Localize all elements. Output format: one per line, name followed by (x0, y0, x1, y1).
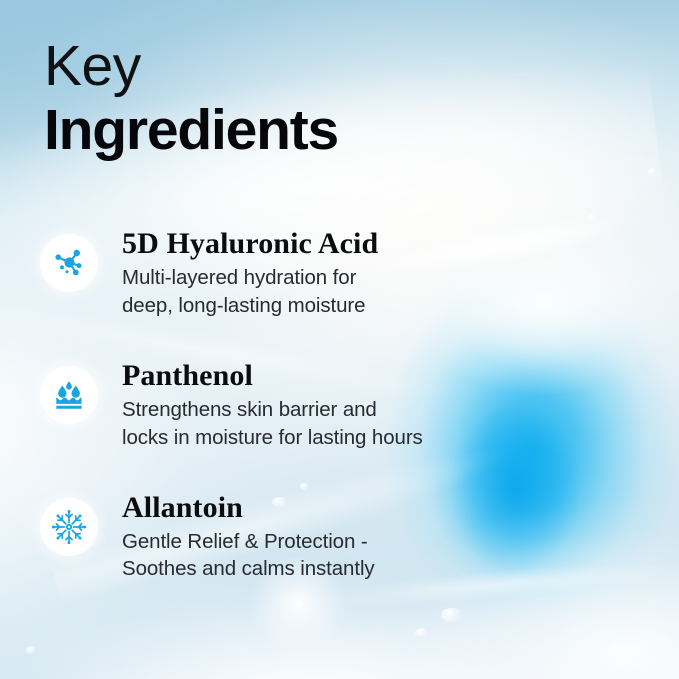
water-droplets-icon (52, 378, 86, 412)
molecule-icon-badge (40, 234, 98, 292)
ingredient-title: 5D Hyaluronic Acid (122, 228, 378, 260)
ingredient-text-allantoin: Allantoin Gentle Relief & Protection - S… (122, 492, 375, 583)
snowflake-icon-badge (40, 498, 98, 556)
page-title-line-2: Ingredients (44, 102, 338, 159)
ingredient-text-hyaluronic-acid: 5D Hyaluronic Acid Multi-layered hydrati… (122, 228, 378, 319)
bubble-decor (648, 168, 657, 177)
bubble-decor (441, 608, 463, 622)
ingredient-list: 5D Hyaluronic Acid Multi-layered hydrati… (40, 228, 640, 583)
ingredient-item-panthenol: Panthenol Strengthens skin barrier and l… (40, 360, 640, 451)
ingredient-item-hyaluronic-acid: 5D Hyaluronic Acid Multi-layered hydrati… (40, 228, 640, 319)
page-title: Key Ingredients (44, 38, 338, 159)
bubble-decor (589, 214, 595, 220)
snowflake-icon (50, 508, 88, 546)
bubble-decor (415, 628, 428, 637)
ingredient-description: Gentle Relief & Protection - Soothes and… (122, 528, 375, 583)
page-title-line-1: Key (44, 38, 338, 95)
molecule-icon (51, 245, 87, 281)
ingredient-item-allantoin: Allantoin Gentle Relief & Protection - S… (40, 492, 640, 583)
ingredient-title: Allantoin (122, 492, 375, 524)
water-droplets-icon-badge (40, 366, 98, 424)
ingredient-description: Strengthens skin barrier and locks in mo… (122, 396, 423, 451)
ingredient-title: Panthenol (122, 360, 423, 392)
key-ingredients-banner: Key Ingredients (0, 0, 679, 679)
bubble-decor (26, 646, 37, 654)
ingredient-description: Multi-layered hydration for deep, long-l… (122, 264, 378, 319)
ingredient-text-panthenol: Panthenol Strengthens skin barrier and l… (122, 360, 423, 451)
